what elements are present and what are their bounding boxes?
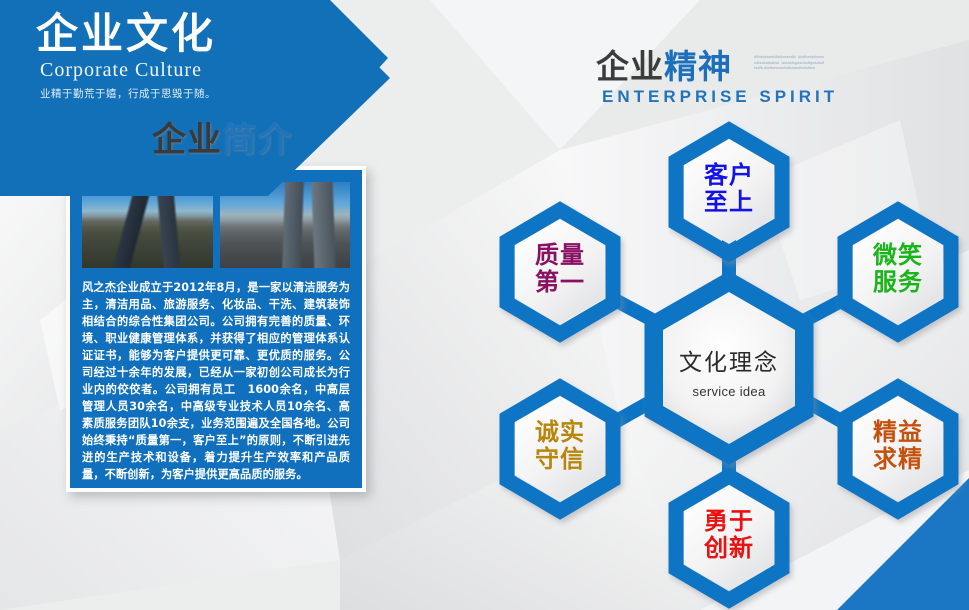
- banner-text-group: 企业文化 Corporate Culture 业精于勤荒于嬉，行成于思毁于随。: [36, 10, 216, 101]
- hexagon-node-bold-innovation[interactable]: [676, 476, 782, 600]
- hexagon-node-honesty-trust[interactable]: [507, 387, 613, 511]
- poster-canvas: 企业文化 Corporate Culture 业精于勤荒于嬉，行成于思毁于随。 …: [0, 0, 969, 610]
- culture-hexagon-diagram: 文化理念 service idea 客户 至上 微笑 服务 精益 求精 勇于 创…: [490, 110, 969, 610]
- banner-title-en: Corporate Culture: [36, 59, 216, 82]
- hexagon-graphics: [490, 110, 969, 610]
- intro-panel: 风之杰企业成立于2012年8月，是一家以清洁服务为主，清洁用品、旅游服务、化妆品…: [70, 170, 362, 488]
- hexagon-node-excellence[interactable]: [845, 387, 951, 511]
- intro-heading-dark: 企业: [152, 120, 222, 160]
- banner-motto: 业精于勤荒于嬉，行成于思毁于随。: [36, 86, 216, 101]
- hexagon-node-quality-first[interactable]: [507, 210, 613, 334]
- intro-body-text: 风之杰企业成立于2012年8月，是一家以清洁服务为主，清洁用品、旅游服务、化妆品…: [82, 279, 350, 483]
- intro-heading: 企业简介: [152, 112, 292, 161]
- hexagon-node-smile-service[interactable]: [845, 210, 951, 334]
- spirit-heading-group: 企业精神 ENTERPRISE SPIRIT difkdsaiswkfdlskl…: [596, 50, 838, 107]
- banner-title-cn: 企业文化: [36, 10, 216, 58]
- hexagon-center[interactable]: [654, 282, 804, 454]
- hexagon-node-customer-first[interactable]: [676, 130, 782, 254]
- spirit-heading-cn-blue: 精神: [664, 47, 732, 86]
- spirit-filler-text: difkdsaiswkfdlsklswsndkl dkdfkwtdsfusrws…: [754, 55, 824, 72]
- spirit-heading-en: ENTERPRISE SPIRIT: [596, 87, 838, 107]
- corporate-culture-banner: 企业文化 Corporate Culture 业精于勤荒于嬉，行成于思毁于随。: [0, 0, 430, 200]
- intro-heading-blue: 简介: [222, 120, 292, 160]
- spirit-heading-cn-dark: 企业: [596, 47, 664, 86]
